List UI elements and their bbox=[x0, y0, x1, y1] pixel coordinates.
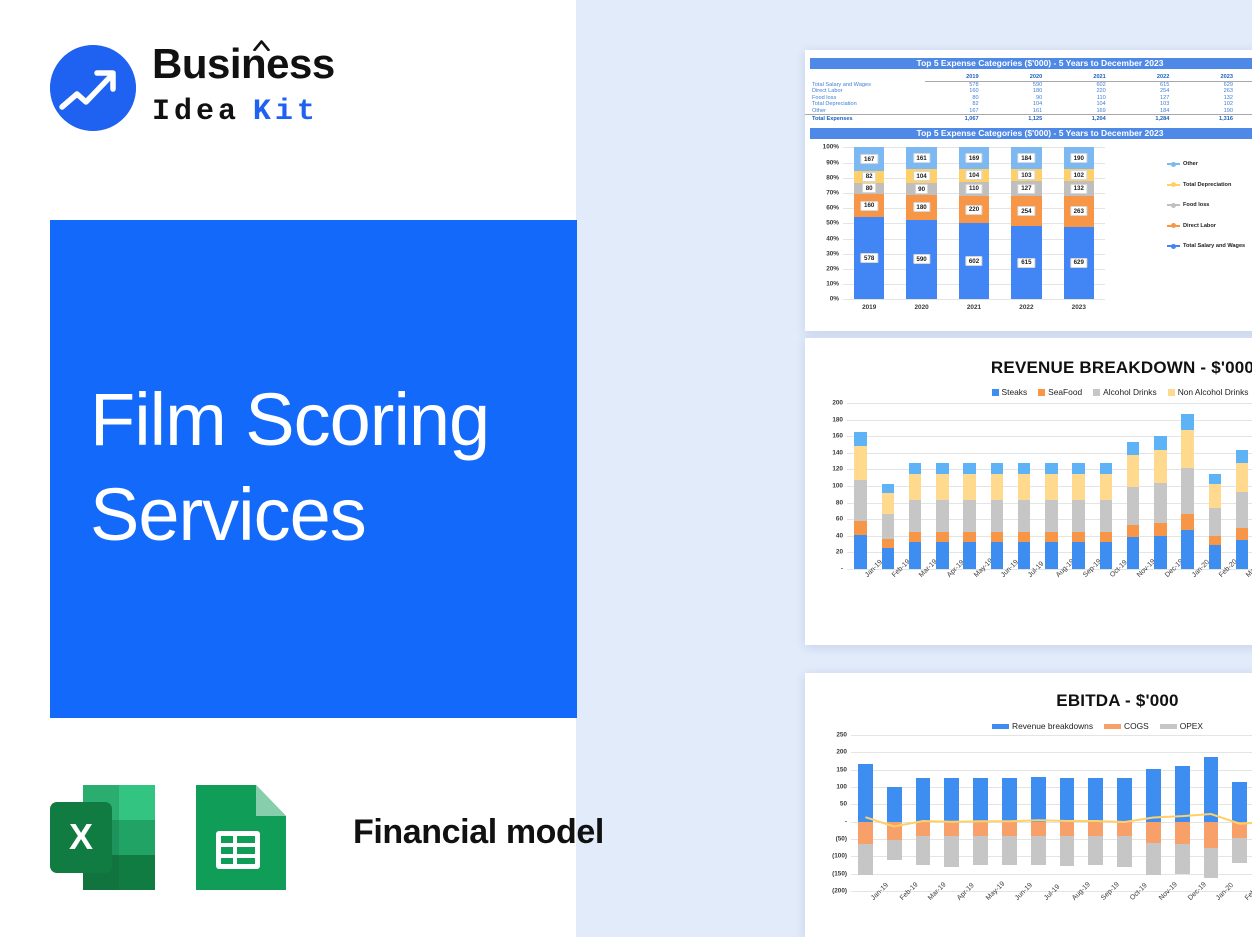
trend-up-arrow-circle-icon bbox=[50, 45, 136, 131]
hero-banner: Film Scoring Services bbox=[50, 220, 577, 718]
y-axis-tick: 60% bbox=[826, 205, 839, 212]
logo-word-business: Business bbox=[152, 41, 335, 87]
bar-data-label: 80 bbox=[862, 183, 876, 193]
bar-segment bbox=[1209, 484, 1222, 508]
table-header-row: 2019 2020 2021 2022 2023 bbox=[805, 74, 1252, 82]
bar-segment: 590 bbox=[906, 220, 936, 300]
table-total-row: Total Expenses1,0671,1251,2041,2841,316 bbox=[805, 114, 1252, 122]
page-title-line-1: Film Scoring bbox=[90, 372, 560, 467]
total-value: 1,067 bbox=[925, 114, 989, 122]
bar-data-label: 127 bbox=[1018, 184, 1035, 194]
row-value: 629 bbox=[1179, 82, 1243, 89]
screenshot-card-ebitda: EBITDA - $'000 Revenue breakdownsCOGSOPE… bbox=[805, 673, 1252, 937]
legend-label: OPEX bbox=[1180, 721, 1203, 731]
bar-segment bbox=[909, 463, 922, 474]
bar-segment bbox=[963, 542, 976, 569]
bar-segment bbox=[1072, 542, 1085, 569]
legend-item: COGS bbox=[1104, 721, 1149, 731]
bar-segment bbox=[1045, 463, 1058, 474]
bar-segment bbox=[854, 480, 867, 521]
bar-stack: 169104110220602 bbox=[959, 147, 989, 299]
bar-segment: 629 bbox=[1064, 227, 1094, 300]
legend-label: Non Alcohol Drinks bbox=[1178, 387, 1249, 397]
bar-segment bbox=[909, 532, 922, 543]
y-axis-tick: 40% bbox=[826, 235, 839, 242]
y-axis-tick: 160 bbox=[832, 433, 843, 440]
bar-segment bbox=[936, 500, 949, 532]
bar-segment bbox=[963, 532, 976, 543]
bar-segment bbox=[1236, 450, 1249, 462]
bar-segment: 103 bbox=[1011, 169, 1041, 181]
bar-segment bbox=[1072, 474, 1085, 501]
bar-data-label: 184 bbox=[1018, 153, 1035, 163]
legend-swatch bbox=[992, 724, 1009, 729]
bar-segment: 102 bbox=[1064, 169, 1094, 181]
bar-segment bbox=[1181, 468, 1194, 514]
table-row: Other167161169184190 bbox=[805, 108, 1252, 115]
x-axis-tick: 2023 bbox=[1064, 304, 1094, 311]
footer-formats: X Financial model bbox=[50, 785, 670, 890]
bar-segment bbox=[1100, 500, 1113, 532]
bar-segment bbox=[1072, 532, 1085, 543]
bar-segment bbox=[1236, 492, 1249, 528]
legend-item: Alcohol Drinks bbox=[1093, 387, 1157, 397]
bar-segment bbox=[1100, 532, 1113, 543]
y-axis-tick: 30% bbox=[826, 250, 839, 257]
bar-stack bbox=[1045, 403, 1058, 569]
bar-segment bbox=[1209, 545, 1222, 569]
legend-item: OPEX bbox=[1160, 721, 1203, 731]
legend-dash bbox=[1167, 163, 1180, 165]
bar-stack: 1678280160578 bbox=[854, 147, 884, 299]
bar-segment bbox=[991, 474, 1004, 501]
bar-data-label: 104 bbox=[965, 170, 982, 180]
bar-segment bbox=[882, 539, 895, 548]
bar-segment: 110 bbox=[959, 182, 989, 196]
legend-swatch bbox=[1160, 724, 1177, 729]
bar-segment bbox=[854, 432, 867, 446]
legend-swatch bbox=[992, 389, 999, 396]
y-axis-tick: 20% bbox=[826, 265, 839, 272]
bar-segment bbox=[1181, 530, 1194, 569]
bar-segment bbox=[1127, 455, 1140, 487]
bar-data-label: 104 bbox=[913, 171, 930, 181]
bar-stack: 16110490180590 bbox=[906, 147, 936, 299]
bar-data-label: 169 bbox=[965, 153, 982, 163]
legend-item: SeaFood bbox=[1038, 387, 1082, 397]
bar-segment bbox=[1045, 474, 1058, 501]
row-value: 602 bbox=[1052, 82, 1116, 89]
x-axis-tick: 2021 bbox=[959, 304, 989, 311]
expense-table-title: Top 5 Expense Categories ($'000) - 5 Yea… bbox=[810, 58, 1252, 69]
y-axis-tick: 20 bbox=[836, 549, 843, 556]
bar-segment bbox=[1018, 542, 1031, 569]
legend-swatch bbox=[1104, 724, 1121, 729]
legend-dash bbox=[1167, 245, 1180, 247]
bar-segment bbox=[1018, 463, 1031, 474]
bar-segment bbox=[1209, 474, 1222, 484]
bar-stack bbox=[1018, 403, 1031, 569]
bar-stack bbox=[991, 403, 1004, 569]
ebitda-chart-legend: Revenue breakdownsCOGSOPEX bbox=[805, 721, 1252, 731]
bar-segment: 180 bbox=[906, 195, 936, 219]
bar-segment bbox=[963, 500, 976, 532]
bar-segment bbox=[936, 532, 949, 543]
total-label: Total Expenses bbox=[805, 114, 925, 122]
legend-swatch bbox=[1168, 389, 1175, 396]
legend-dash bbox=[1167, 204, 1180, 206]
bar-segment: 184 bbox=[1011, 147, 1041, 169]
total-value: 1,284 bbox=[1116, 114, 1180, 122]
page-title: Film Scoring Services bbox=[90, 372, 560, 562]
legend-item: Steaks bbox=[992, 387, 1028, 397]
row-label: Other bbox=[805, 108, 925, 115]
bar-segment: 263 bbox=[1064, 196, 1094, 226]
bar-segment: 578 bbox=[854, 217, 884, 299]
bar-stack bbox=[1209, 403, 1222, 569]
bar-segment: 90 bbox=[906, 183, 936, 195]
bar-stack bbox=[1100, 403, 1113, 569]
bar-segment bbox=[1154, 450, 1167, 483]
legend-swatch bbox=[1093, 389, 1100, 396]
bar-stack bbox=[1181, 403, 1194, 569]
y-axis-tick: 100% bbox=[823, 144, 839, 151]
bar-segment bbox=[1018, 500, 1031, 532]
bar-data-label: 263 bbox=[1070, 206, 1087, 216]
row-spacer bbox=[1243, 108, 1252, 115]
y-axis-tick: 0% bbox=[830, 296, 839, 303]
legend-label: SeaFood bbox=[1048, 387, 1082, 397]
y-axis-tick: 80% bbox=[826, 174, 839, 181]
y-axis-tick: 120 bbox=[832, 466, 843, 473]
y-axis-tick: 90% bbox=[826, 159, 839, 166]
bar-data-label: 161 bbox=[913, 153, 930, 163]
legend-label: Revenue breakdowns bbox=[1012, 721, 1093, 731]
legend-dash bbox=[1167, 184, 1180, 186]
bar-segment bbox=[1127, 537, 1140, 569]
row-value: 184 bbox=[1116, 108, 1180, 115]
bar-segment bbox=[909, 500, 922, 532]
expense-chart-legend: OtherTotal DepreciationFood lossDirect L… bbox=[1167, 161, 1245, 264]
ebitda-line-series bbox=[805, 731, 1252, 931]
bar-segment bbox=[909, 474, 922, 501]
bar-stack bbox=[882, 403, 895, 569]
bar-segment: 167 bbox=[854, 147, 884, 171]
row-spacer bbox=[1243, 82, 1252, 89]
y-axis-tick: 180 bbox=[832, 416, 843, 423]
row-label: Total Salary and Wages bbox=[805, 82, 925, 89]
bar-stack bbox=[909, 403, 922, 569]
legend-item: Other bbox=[1167, 161, 1245, 167]
bar-segment bbox=[936, 542, 949, 569]
total-value: 1,204 bbox=[1052, 114, 1116, 122]
bar-segment bbox=[882, 548, 895, 569]
bar-segment bbox=[1181, 414, 1194, 430]
legend-label: Alcohol Drinks bbox=[1103, 387, 1157, 397]
bar-segment bbox=[882, 493, 895, 514]
bar-data-label: 103 bbox=[1018, 170, 1035, 180]
bar-data-label: 590 bbox=[913, 254, 930, 264]
bar-segment bbox=[991, 532, 1004, 543]
bar-stack: 190102132263629 bbox=[1064, 147, 1094, 299]
bar-segment: 254 bbox=[1011, 196, 1041, 226]
bar-segment bbox=[1154, 483, 1167, 523]
bar-segment: 161 bbox=[906, 147, 936, 169]
ebitda-plot-area: 25020015010050-(50)(100)(150)(200)Jan-19… bbox=[805, 731, 1252, 931]
total-value: 1,125 bbox=[989, 114, 1053, 122]
row-value: 615 bbox=[1116, 82, 1180, 89]
x-axis-tick: 2022 bbox=[1011, 304, 1041, 311]
bar-data-label: 578 bbox=[861, 253, 878, 263]
bar-segment: 220 bbox=[959, 196, 989, 224]
legend-dash bbox=[1167, 225, 1180, 227]
legend-item: Non Alcohol Drinks bbox=[1168, 387, 1249, 397]
y-axis-tick: 10% bbox=[826, 281, 839, 288]
bar-segment: 132 bbox=[1064, 181, 1094, 196]
legend-label: Food loss bbox=[1183, 202, 1209, 208]
x-axis-tick: 2019 bbox=[854, 304, 884, 311]
bar-segment bbox=[1236, 528, 1249, 540]
revenue-plot-area: -20406080100120140160180200Jan-19Feb-19M… bbox=[805, 397, 1252, 627]
bar-data-label: 629 bbox=[1070, 258, 1087, 268]
bar-segment bbox=[1100, 542, 1113, 569]
y-axis-tick: 50% bbox=[826, 220, 839, 227]
y-axis-tick: - bbox=[841, 566, 843, 573]
bar-segment bbox=[1127, 487, 1140, 525]
expense-chart-title: Top 5 Expense Categories ($'000) - 5 Yea… bbox=[810, 128, 1252, 139]
bar-segment: 127 bbox=[1011, 181, 1041, 196]
bar-segment bbox=[991, 463, 1004, 474]
bar-segment bbox=[936, 463, 949, 474]
row-value: 590 bbox=[989, 82, 1053, 89]
y-axis-tick: 140 bbox=[832, 449, 843, 456]
bar-data-label: 602 bbox=[965, 256, 982, 266]
logo-word-kit: Kit bbox=[253, 95, 319, 129]
bar-segment bbox=[991, 542, 1004, 569]
bar-stack bbox=[1127, 403, 1140, 569]
bar-segment bbox=[1209, 508, 1222, 536]
table-row: Total Salary and Wages578590602615629 bbox=[805, 82, 1252, 89]
svg-text:X: X bbox=[69, 816, 93, 857]
bar-segment bbox=[1045, 542, 1058, 569]
bar-segment bbox=[1127, 442, 1140, 455]
legend-item: Revenue breakdowns bbox=[992, 721, 1093, 731]
bar-stack bbox=[854, 403, 867, 569]
bar-stack: 184103127254615 bbox=[1011, 147, 1041, 299]
row-value: 578 bbox=[925, 82, 989, 89]
legend-label: COGS bbox=[1124, 721, 1149, 731]
bar-stack bbox=[1072, 403, 1085, 569]
bar-segment: 615 bbox=[1011, 226, 1041, 299]
y-axis-tick: 60 bbox=[836, 516, 843, 523]
microsoft-excel-icon: X bbox=[50, 785, 174, 890]
bar-segment: 104 bbox=[906, 169, 936, 183]
bar-segment: 190 bbox=[1064, 147, 1094, 169]
gridline bbox=[843, 299, 1105, 300]
total-value: 1,316 bbox=[1179, 114, 1243, 122]
bar-segment bbox=[936, 474, 949, 501]
bar-segment: 104 bbox=[959, 169, 989, 182]
x-axis-tick: 2020 bbox=[906, 304, 936, 311]
brand-logo: Business Idea Kit bbox=[50, 41, 430, 141]
logo-circumflex-accent bbox=[253, 38, 270, 49]
bar-data-label: 90 bbox=[915, 184, 929, 194]
bar-segment: 169 bbox=[959, 147, 989, 168]
bar-segment bbox=[1154, 436, 1167, 449]
bar-segment bbox=[1100, 463, 1113, 474]
bar-segment bbox=[882, 484, 895, 493]
bar-segment bbox=[854, 521, 867, 535]
bar-segment bbox=[1181, 430, 1194, 468]
bar-stack bbox=[963, 403, 976, 569]
bar-data-label: 132 bbox=[1070, 184, 1087, 194]
google-sheets-icon bbox=[190, 785, 294, 890]
bar-stack bbox=[936, 403, 949, 569]
row-value: 167 bbox=[925, 108, 989, 115]
legend-item: Total Depreciation bbox=[1167, 182, 1245, 188]
bar-data-label: 82 bbox=[862, 172, 876, 182]
gridline bbox=[847, 569, 1252, 570]
bar-data-label: 102 bbox=[1070, 170, 1087, 180]
total-spacer bbox=[1243, 114, 1252, 122]
legend-label: Direct Labor bbox=[1183, 223, 1216, 229]
y-axis-tick: 70% bbox=[826, 189, 839, 196]
bar-segment: 82 bbox=[854, 171, 884, 183]
bar-segment bbox=[1072, 463, 1085, 474]
expense-table: 2019 2020 2021 2022 2023 Total Salary an… bbox=[805, 74, 1252, 122]
bar-segment bbox=[1018, 474, 1031, 501]
bar-data-label: 615 bbox=[1018, 258, 1035, 268]
screenshot-card-expense-categories: Top 5 Expense Categories ($'000) - 5 Yea… bbox=[805, 50, 1252, 331]
legend-label: Other bbox=[1183, 161, 1198, 167]
row-value: 161 bbox=[989, 108, 1053, 115]
bar-segment bbox=[1154, 536, 1167, 569]
ebitda-chart-title: EBITDA - $'000 bbox=[805, 691, 1252, 711]
bar-segment bbox=[963, 463, 976, 474]
y-axis-tick: 80 bbox=[836, 499, 843, 506]
bar-segment bbox=[991, 500, 1004, 532]
bar-segment bbox=[882, 514, 895, 539]
bar-data-label: 220 bbox=[965, 205, 982, 215]
bar-segment bbox=[909, 542, 922, 569]
legend-item: Direct Labor bbox=[1167, 223, 1245, 229]
revenue-chart-legend: SteaksSeaFoodAlcohol DrinksNon Alcohol D… bbox=[805, 387, 1252, 397]
legend-item: Total Salary and Wages bbox=[1167, 243, 1245, 249]
row-value: 169 bbox=[1052, 108, 1116, 115]
footer-label: Financial model bbox=[353, 813, 604, 852]
bar-segment bbox=[1209, 536, 1222, 545]
bar-segment bbox=[1072, 500, 1085, 532]
bar-stack bbox=[1236, 403, 1249, 569]
bar-data-label: 110 bbox=[965, 184, 982, 194]
bar-segment: 80 bbox=[854, 183, 884, 194]
revenue-chart-title: REVENUE BREAKDOWN - $'000 bbox=[805, 358, 1252, 378]
bar-data-label: 160 bbox=[861, 201, 878, 211]
bar-stack bbox=[1154, 403, 1167, 569]
legend-label: Total Salary and Wages bbox=[1183, 243, 1245, 249]
y-axis-tick: 40 bbox=[836, 532, 843, 539]
bar-segment bbox=[854, 446, 867, 480]
bar-segment bbox=[1236, 463, 1249, 492]
expense-stacked-chart: 0%10%20%30%40%50%60%70%80%90%100%1678280… bbox=[805, 139, 1252, 325]
page-title-line-2: Services bbox=[90, 467, 560, 562]
legend-label: Steaks bbox=[1002, 387, 1028, 397]
bar-segment: 160 bbox=[854, 194, 884, 217]
bar-segment bbox=[1127, 525, 1140, 537]
bar-segment: 602 bbox=[959, 223, 989, 299]
bar-data-label: 190 bbox=[1070, 153, 1087, 163]
bar-data-label: 180 bbox=[913, 202, 930, 212]
y-axis-tick: 200 bbox=[832, 400, 843, 407]
bar-segment bbox=[1045, 532, 1058, 543]
bar-data-label: 167 bbox=[861, 154, 878, 164]
bar-data-label: 254 bbox=[1018, 206, 1035, 216]
bar-segment bbox=[1018, 532, 1031, 543]
y-axis-tick: 100 bbox=[832, 483, 843, 490]
legend-item: Food loss bbox=[1167, 202, 1245, 208]
bar-segment bbox=[1100, 474, 1113, 501]
bar-segment bbox=[1045, 500, 1058, 532]
legend-swatch bbox=[1038, 389, 1045, 396]
bar-segment bbox=[1181, 514, 1194, 530]
screenshot-card-revenue-breakdown: REVENUE BREAKDOWN - $'000 SteaksSeaFoodA… bbox=[805, 338, 1252, 645]
row-value: 190 bbox=[1179, 108, 1243, 115]
bar-segment bbox=[1154, 523, 1167, 536]
bar-segment bbox=[963, 474, 976, 501]
bar-segment bbox=[1236, 540, 1249, 569]
bar-segment bbox=[854, 535, 867, 569]
logo-word-idea: Idea bbox=[152, 95, 240, 129]
legend-label: Total Depreciation bbox=[1183, 182, 1231, 188]
